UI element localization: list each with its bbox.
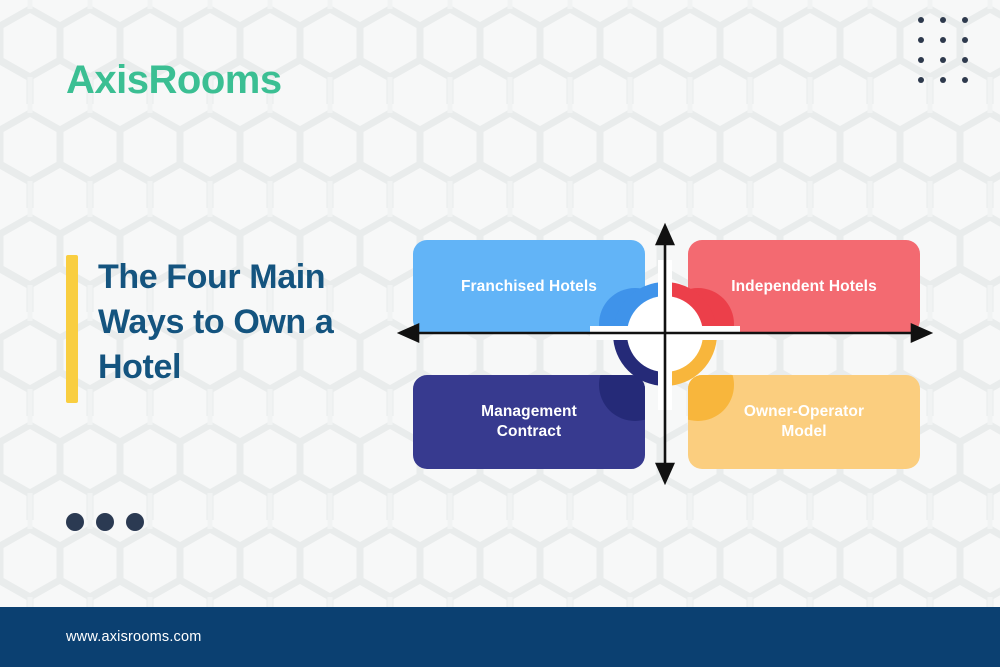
hub-gap-vertical [658,260,672,410]
dot [962,57,968,63]
dot [918,57,924,63]
four-quadrant-diagram: Franchised Hotels Independent Hotels Man… [390,220,940,485]
headline-block: The Four Main Ways to Own a Hotel [66,255,396,390]
dot [96,513,114,531]
infographic-canvas: AxisRooms The Four Main Ways to Own a Ho… [0,0,1000,667]
arrow-head-up [657,226,673,244]
page-title: The Four Main Ways to Own a Hotel [98,255,396,390]
diagram-node-owner-operator: Owner-Operator Model [688,375,920,469]
dot [918,77,924,83]
headline-accent-bar [66,255,78,403]
corner-dot-grid-decoration [910,10,976,90]
dot [918,17,924,23]
diagram-node-label: Owner-Operator Model [744,402,864,442]
dot [66,513,84,531]
diagram-node-franchised: Franchised Hotels [413,240,645,334]
arrow-head-down [657,464,673,482]
dot [962,17,968,23]
diagram-node-label: Independent Hotels [731,277,877,297]
diagram-node-label: Franchised Hotels [461,277,597,297]
dot [962,77,968,83]
triple-dot-decoration [66,513,144,531]
dot [940,77,946,83]
footer-bar: www.axisrooms.com [0,607,1000,667]
diagram-node-management-contract: Management Contract [413,375,645,469]
brand-logo: AxisRooms [66,58,282,103]
dot [940,17,946,23]
footer-website-url[interactable]: www.axisrooms.com [66,629,202,645]
diagram-node-label: Management Contract [481,402,577,442]
dot [940,37,946,43]
dot [918,37,924,43]
dot [126,513,144,531]
dot [962,37,968,43]
dot [940,57,946,63]
diagram-node-independent: Independent Hotels [688,240,920,334]
